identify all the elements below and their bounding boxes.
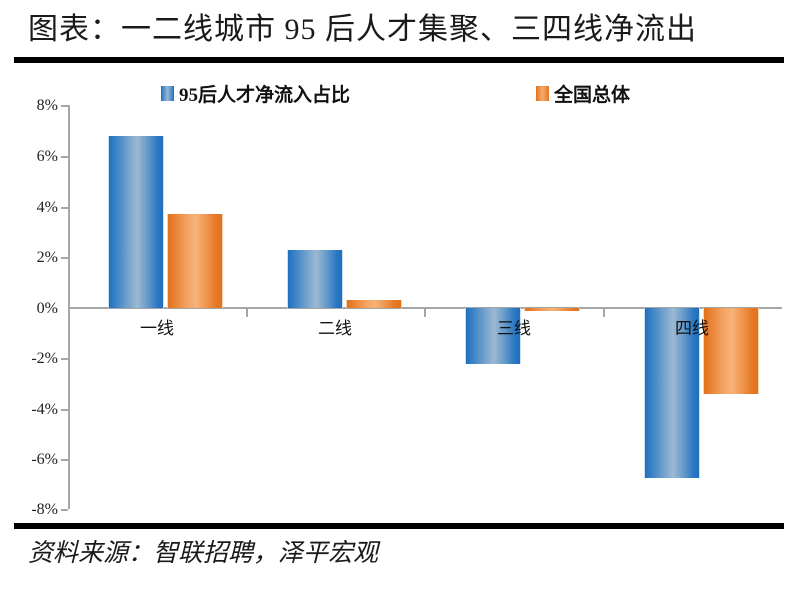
- y-tick-2: [61, 257, 68, 259]
- y-tick-neg4: [61, 409, 68, 411]
- y-tick-label-neg4: -4%: [10, 401, 58, 419]
- y-tick-4: [61, 207, 68, 209]
- bar-series0-cat1[interactable]: [287, 250, 343, 308]
- bar-series1-cat2[interactable]: [524, 308, 580, 311]
- y-tick-label-neg2: -2%: [10, 350, 58, 368]
- y-tick-label-8: 8%: [10, 97, 58, 115]
- y-tick-label-neg6: -6%: [10, 451, 58, 469]
- x-axis-separator-2: [424, 309, 426, 317]
- chart-page: 图表：一二线城市 95 后人才集聚、三四线净流出 95后人才净流入占比 全国总体…: [0, 0, 798, 591]
- source-note: 资料来源：智联招聘，泽平宏观: [28, 534, 768, 574]
- x-axis-label-cat2: 三线: [454, 314, 574, 339]
- y-tick-neg6: [61, 459, 68, 461]
- chart-canvas: 8% 6% 4% 2% 0% -2% -4% -6% -8% 一线 二线 三线 …: [0, 0, 798, 591]
- y-tick-label-6: 6%: [10, 148, 58, 166]
- y-tick-label-0: 0%: [10, 300, 58, 318]
- x-axis-label-cat1: 二线: [275, 314, 395, 339]
- bar-series1-cat0[interactable]: [167, 214, 223, 308]
- y-tick-label-4: 4%: [10, 199, 58, 217]
- y-tick-8: [61, 105, 68, 107]
- x-axis-label-cat3: 四线: [632, 314, 752, 339]
- y-tick-6: [61, 156, 68, 158]
- y-tick-label-neg8: -8%: [10, 501, 58, 519]
- y-tick-neg2: [61, 358, 68, 360]
- x-axis-label-cat0: 一线: [97, 314, 217, 339]
- footer-divider-rule: [14, 523, 784, 529]
- y-tick-label-2: 2%: [10, 249, 58, 267]
- x-axis-separator-1: [246, 309, 248, 317]
- bar-series0-cat0[interactable]: [108, 136, 164, 308]
- bar-series1-cat1[interactable]: [346, 300, 402, 308]
- x-axis-separator-3: [603, 309, 605, 317]
- y-tick-neg8: [61, 509, 68, 511]
